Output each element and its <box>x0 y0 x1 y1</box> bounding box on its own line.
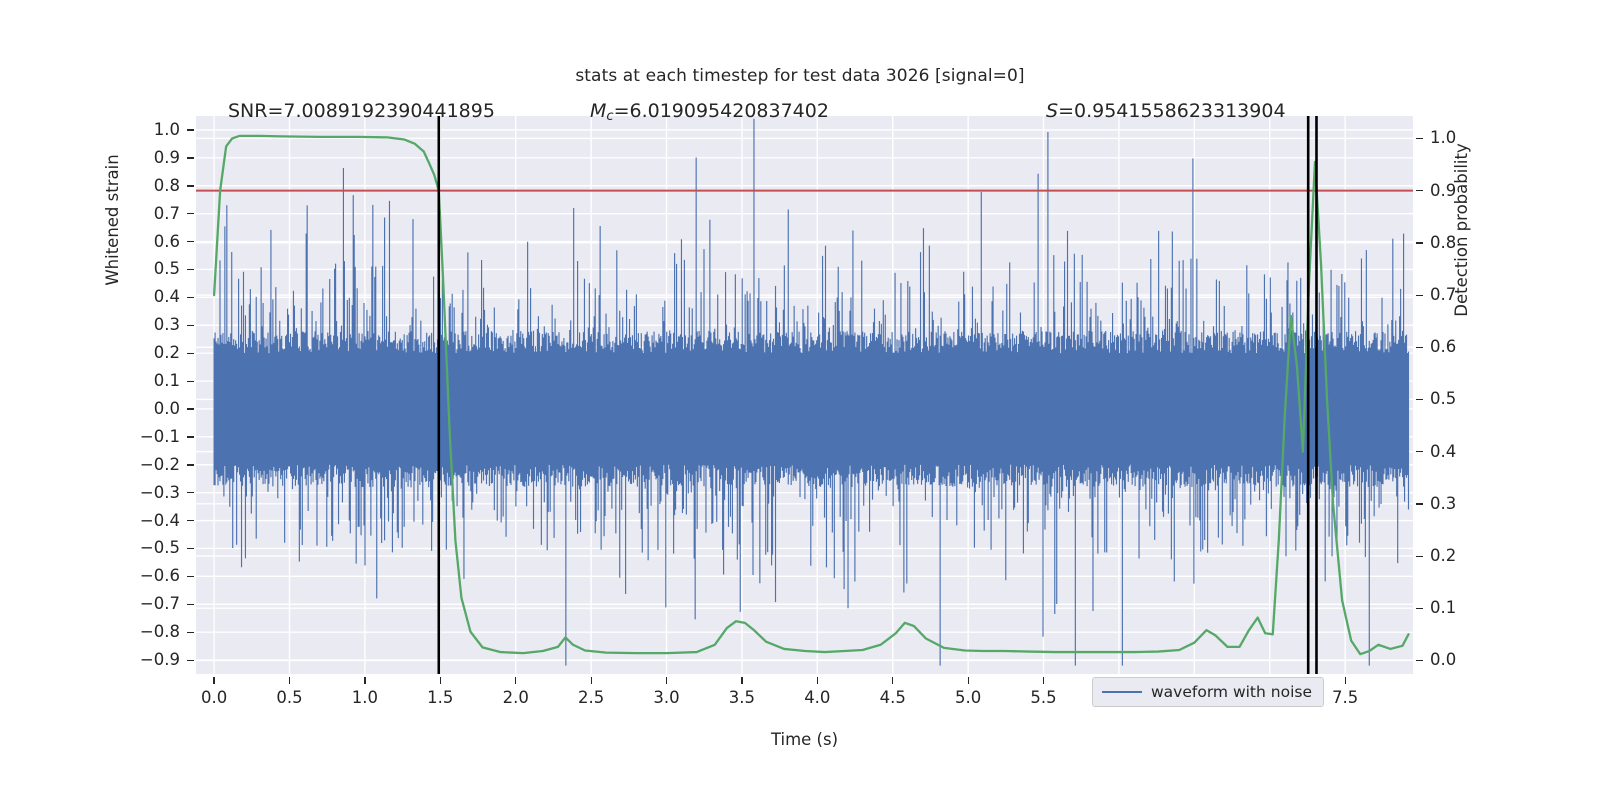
axis-tick-label: 0.2 <box>0 343 180 362</box>
axis-tick-mark <box>817 677 818 684</box>
axis-tick-label: 2.5 <box>551 688 631 707</box>
annotation-s-label: S <box>1046 100 1058 122</box>
axis-tick-mark <box>892 677 893 684</box>
axis-tick-mark <box>187 548 194 549</box>
axis-tick-mark <box>968 677 969 684</box>
annotation-score: S=0.9541558623313904 <box>1046 100 1286 122</box>
axis-tick-label: 0.4 <box>1430 442 1456 461</box>
axis-tick-mark <box>1416 295 1423 296</box>
axis-tick-label: 0.5 <box>249 688 329 707</box>
axis-tick-label: 0.2 <box>1430 546 1456 565</box>
axis-tick-mark <box>187 297 194 298</box>
axis-tick-label: −0.4 <box>0 511 180 530</box>
axis-tick-mark <box>187 325 194 326</box>
axis-tick-label: 0.0 <box>174 688 254 707</box>
axis-tick-label: 0.9 <box>0 148 180 167</box>
axis-tick-label: −0.3 <box>0 483 180 502</box>
axis-tick-label: 0.8 <box>0 176 180 195</box>
axis-tick-mark <box>666 677 667 684</box>
axis-tick-label: −0.6 <box>0 566 180 585</box>
annotation-s-equals: = <box>1058 100 1074 122</box>
annotation-mc-label: M <box>590 100 606 122</box>
axis-tick-mark <box>187 660 194 661</box>
annotation-chirp-mass: Mc=6.019095420837402 <box>590 100 829 124</box>
axis-tick-label: 2.0 <box>476 688 556 707</box>
axis-tick-mark <box>1416 399 1423 400</box>
axis-tick-mark <box>187 604 194 605</box>
axis-tick-label: 0.7 <box>1430 285 1456 304</box>
axis-tick-label: 0.5 <box>0 259 180 278</box>
axis-tick-mark <box>187 157 194 158</box>
axis-tick-mark <box>1416 660 1423 661</box>
waveform-line <box>214 119 1408 666</box>
legend[interactable]: waveform with noise <box>1092 677 1324 707</box>
axis-tick-mark <box>187 381 194 382</box>
axis-tick-mark <box>187 241 194 242</box>
axis-tick-mark <box>187 408 194 409</box>
axis-tick-label: 0.0 <box>0 399 180 418</box>
axis-tick-mark <box>1416 608 1423 609</box>
axis-tick-mark <box>1416 347 1423 348</box>
axis-tick-mark <box>187 436 194 437</box>
axis-tick-mark <box>187 185 194 186</box>
axis-tick-mark <box>440 677 441 684</box>
axis-tick-label: 5.5 <box>1004 688 1084 707</box>
annotation-mc-subscript: c <box>606 109 613 124</box>
axis-tick-label: −0.2 <box>0 455 180 474</box>
axis-tick-label: 0.1 <box>1430 598 1456 617</box>
axis-tick-label: 0.3 <box>1430 494 1456 513</box>
axis-tick-mark <box>187 632 194 633</box>
axis-tick-mark <box>1043 677 1044 684</box>
annotation-mc-value: 6.019095420837402 <box>629 100 828 122</box>
axis-tick-mark <box>741 677 742 684</box>
axis-tick-mark <box>187 576 194 577</box>
axis-tick-mark <box>187 213 194 214</box>
chart-title: stats at each timestep for test data 302… <box>0 66 1600 86</box>
axis-tick-mark <box>1416 138 1423 139</box>
plot-svg <box>196 116 1413 674</box>
axis-tick-label: 0.3 <box>0 315 180 334</box>
axis-tick-label: −0.5 <box>0 538 180 557</box>
annotation-mc-equals: = <box>614 100 630 122</box>
axis-tick-mark <box>1416 190 1423 191</box>
axis-tick-label: 0.8 <box>1430 233 1456 252</box>
axis-tick-label: 0.7 <box>0 204 180 223</box>
axis-tick-label: 3.5 <box>702 688 782 707</box>
axis-tick-mark <box>1416 451 1423 452</box>
axis-tick-label: 4.0 <box>777 688 857 707</box>
axis-tick-label: 1.0 <box>0 120 180 139</box>
axis-tick-mark <box>364 677 365 684</box>
axis-tick-mark <box>1416 556 1423 557</box>
axis-tick-label: 3.0 <box>627 688 707 707</box>
axis-tick-label: −0.7 <box>0 594 180 613</box>
axis-tick-mark <box>289 677 290 684</box>
axis-tick-label: 1.5 <box>400 688 480 707</box>
axis-tick-label: 1.0 <box>1430 128 1456 147</box>
axis-tick-mark <box>187 492 194 493</box>
axis-tick-mark <box>1416 242 1423 243</box>
axis-tick-label: 5.0 <box>928 688 1008 707</box>
axis-tick-label: −0.1 <box>0 427 180 446</box>
axis-tick-label: 0.6 <box>0 232 180 251</box>
annotation-snr-value: 7.0089192390441895 <box>283 100 495 122</box>
axis-tick-label: 1.0 <box>325 688 405 707</box>
legend-label-waveform: waveform with noise <box>1151 683 1312 701</box>
axis-tick-mark <box>1345 677 1346 684</box>
legend-swatch-waveform <box>1102 691 1142 693</box>
x-axis-label: Time (s) <box>196 730 1413 749</box>
axis-tick-mark <box>187 269 194 270</box>
axis-tick-mark <box>187 353 194 354</box>
annotation-snr: SNR=7.0089192390441895 <box>228 100 495 122</box>
annotation-snr-label: SNR= <box>228 100 283 122</box>
axis-tick-mark <box>187 520 194 521</box>
axis-tick-label: 0.6 <box>1430 337 1456 356</box>
axis-tick-mark <box>213 677 214 684</box>
annotation-s-value: 0.9541558623313904 <box>1074 100 1286 122</box>
axis-tick-mark <box>187 129 194 130</box>
axis-tick-mark <box>515 677 516 684</box>
axis-tick-mark <box>187 464 194 465</box>
axis-tick-label: −0.9 <box>0 650 180 669</box>
plot-area[interactable] <box>196 116 1413 674</box>
axis-tick-label: 0.5 <box>1430 389 1456 408</box>
figure-canvas: stats at each timestep for test data 302… <box>0 0 1600 800</box>
waveform-series <box>214 119 1408 666</box>
axis-tick-label: 0.0 <box>1430 650 1456 669</box>
axis-tick-label: 0.1 <box>0 371 180 390</box>
axis-tick-label: 0.4 <box>0 287 180 306</box>
axis-tick-label: 0.9 <box>1430 181 1456 200</box>
axis-tick-label: −0.8 <box>0 622 180 641</box>
axis-tick-label: 4.5 <box>853 688 933 707</box>
axis-tick-mark <box>591 677 592 684</box>
axis-tick-mark <box>1416 503 1423 504</box>
